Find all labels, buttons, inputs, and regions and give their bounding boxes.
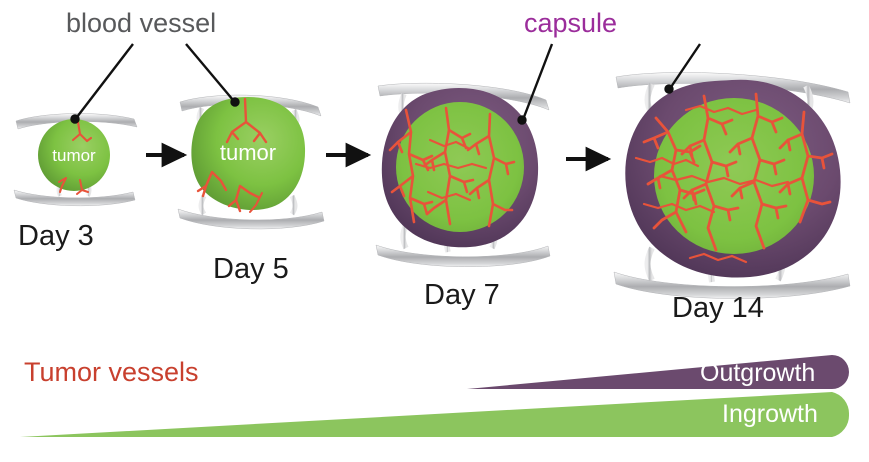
capsule-label: capsule (524, 8, 617, 38)
panel-label-day14: Day 14 (672, 292, 764, 324)
blood-vessel-anchor-dot-day3 (71, 115, 79, 123)
panel-label-day5: Day 5 (213, 253, 289, 285)
capsule-anchor-dot-day7 (518, 116, 526, 124)
tumor-vessels-legend-label: Tumor vessels (24, 357, 199, 387)
blood-vessel-anchor-dot-day5 (231, 98, 239, 106)
panel-label-day3: Day 3 (18, 220, 94, 252)
tumor-label-day5: tumor (220, 140, 276, 165)
panel-label-day7: Day 7 (424, 279, 500, 311)
outgrowth-bar-label: Outgrowth (700, 359, 815, 387)
tumor-label-day3: tumor (52, 146, 96, 165)
tumor-core-day14 (654, 98, 814, 254)
tumor-vascularization-figure: tumor Day 3 tumor Day 5 (0, 0, 869, 462)
capsule-anchor-dot-day14 (665, 85, 673, 93)
blood-vessel-label: blood vessel (66, 8, 216, 38)
ingrowth-bar-label: Ingrowth (722, 400, 818, 428)
